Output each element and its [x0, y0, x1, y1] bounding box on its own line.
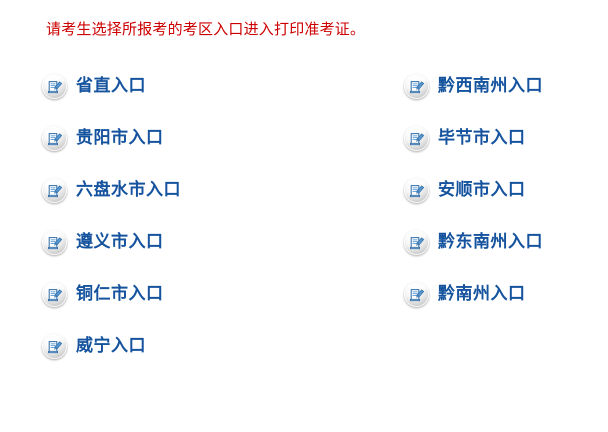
entry-link-label: 省直入口 [76, 76, 146, 96]
entry-link-qianxinan[interactable]: 黔西南州入口 [404, 68, 543, 104]
entry-column-right: 黔西南州入口 毕节市入口 [404, 68, 543, 312]
document-pencil-icon [404, 74, 429, 99]
document-pencil-icon [42, 126, 67, 151]
page-notice: 请考生选择所报考的考区入口进入打印准考证。 [46, 20, 365, 40]
document-pencil-icon [404, 282, 429, 307]
document-pencil-icon [42, 334, 67, 359]
entry-link-anshun[interactable]: 安顺市入口 [404, 172, 526, 208]
entry-link-label: 贵阳市入口 [76, 128, 164, 148]
entry-link-label: 黔南州入口 [438, 284, 526, 304]
entry-link-weining[interactable]: 威宁入口 [42, 328, 146, 364]
entry-link-zunyi[interactable]: 遵义市入口 [42, 224, 164, 260]
entry-link-label: 黔东南州入口 [438, 232, 543, 252]
document-pencil-icon [42, 282, 67, 307]
entry-column-left: 省直入口 贵阳市入口 [42, 68, 181, 364]
entry-link-label: 黔西南州入口 [438, 76, 543, 96]
entry-link-liupanshui[interactable]: 六盘水市入口 [42, 172, 181, 208]
entry-link-bijie[interactable]: 毕节市入口 [404, 120, 526, 156]
entry-link-label: 威宁入口 [76, 336, 146, 356]
entry-link-shengzhi[interactable]: 省直入口 [42, 68, 146, 104]
entry-link-label: 六盘水市入口 [76, 180, 181, 200]
entry-link-label: 遵义市入口 [76, 232, 164, 252]
entry-link-guiyang[interactable]: 贵阳市入口 [42, 120, 164, 156]
document-pencil-icon [404, 126, 429, 151]
entry-link-tongren[interactable]: 铜仁市入口 [42, 276, 164, 312]
exam-entry-page: 请考生选择所报考的考区入口进入打印准考证。 省直入口 [0, 0, 608, 432]
entry-link-qiandongnan[interactable]: 黔东南州入口 [404, 224, 543, 260]
document-pencil-icon [42, 178, 67, 203]
document-pencil-icon [42, 230, 67, 255]
entry-link-label: 毕节市入口 [438, 128, 526, 148]
document-pencil-icon [404, 230, 429, 255]
entry-link-label: 铜仁市入口 [76, 284, 164, 304]
entry-link-qiannan[interactable]: 黔南州入口 [404, 276, 526, 312]
document-pencil-icon [404, 178, 429, 203]
document-pencil-icon [42, 74, 67, 99]
entry-link-label: 安顺市入口 [438, 180, 526, 200]
